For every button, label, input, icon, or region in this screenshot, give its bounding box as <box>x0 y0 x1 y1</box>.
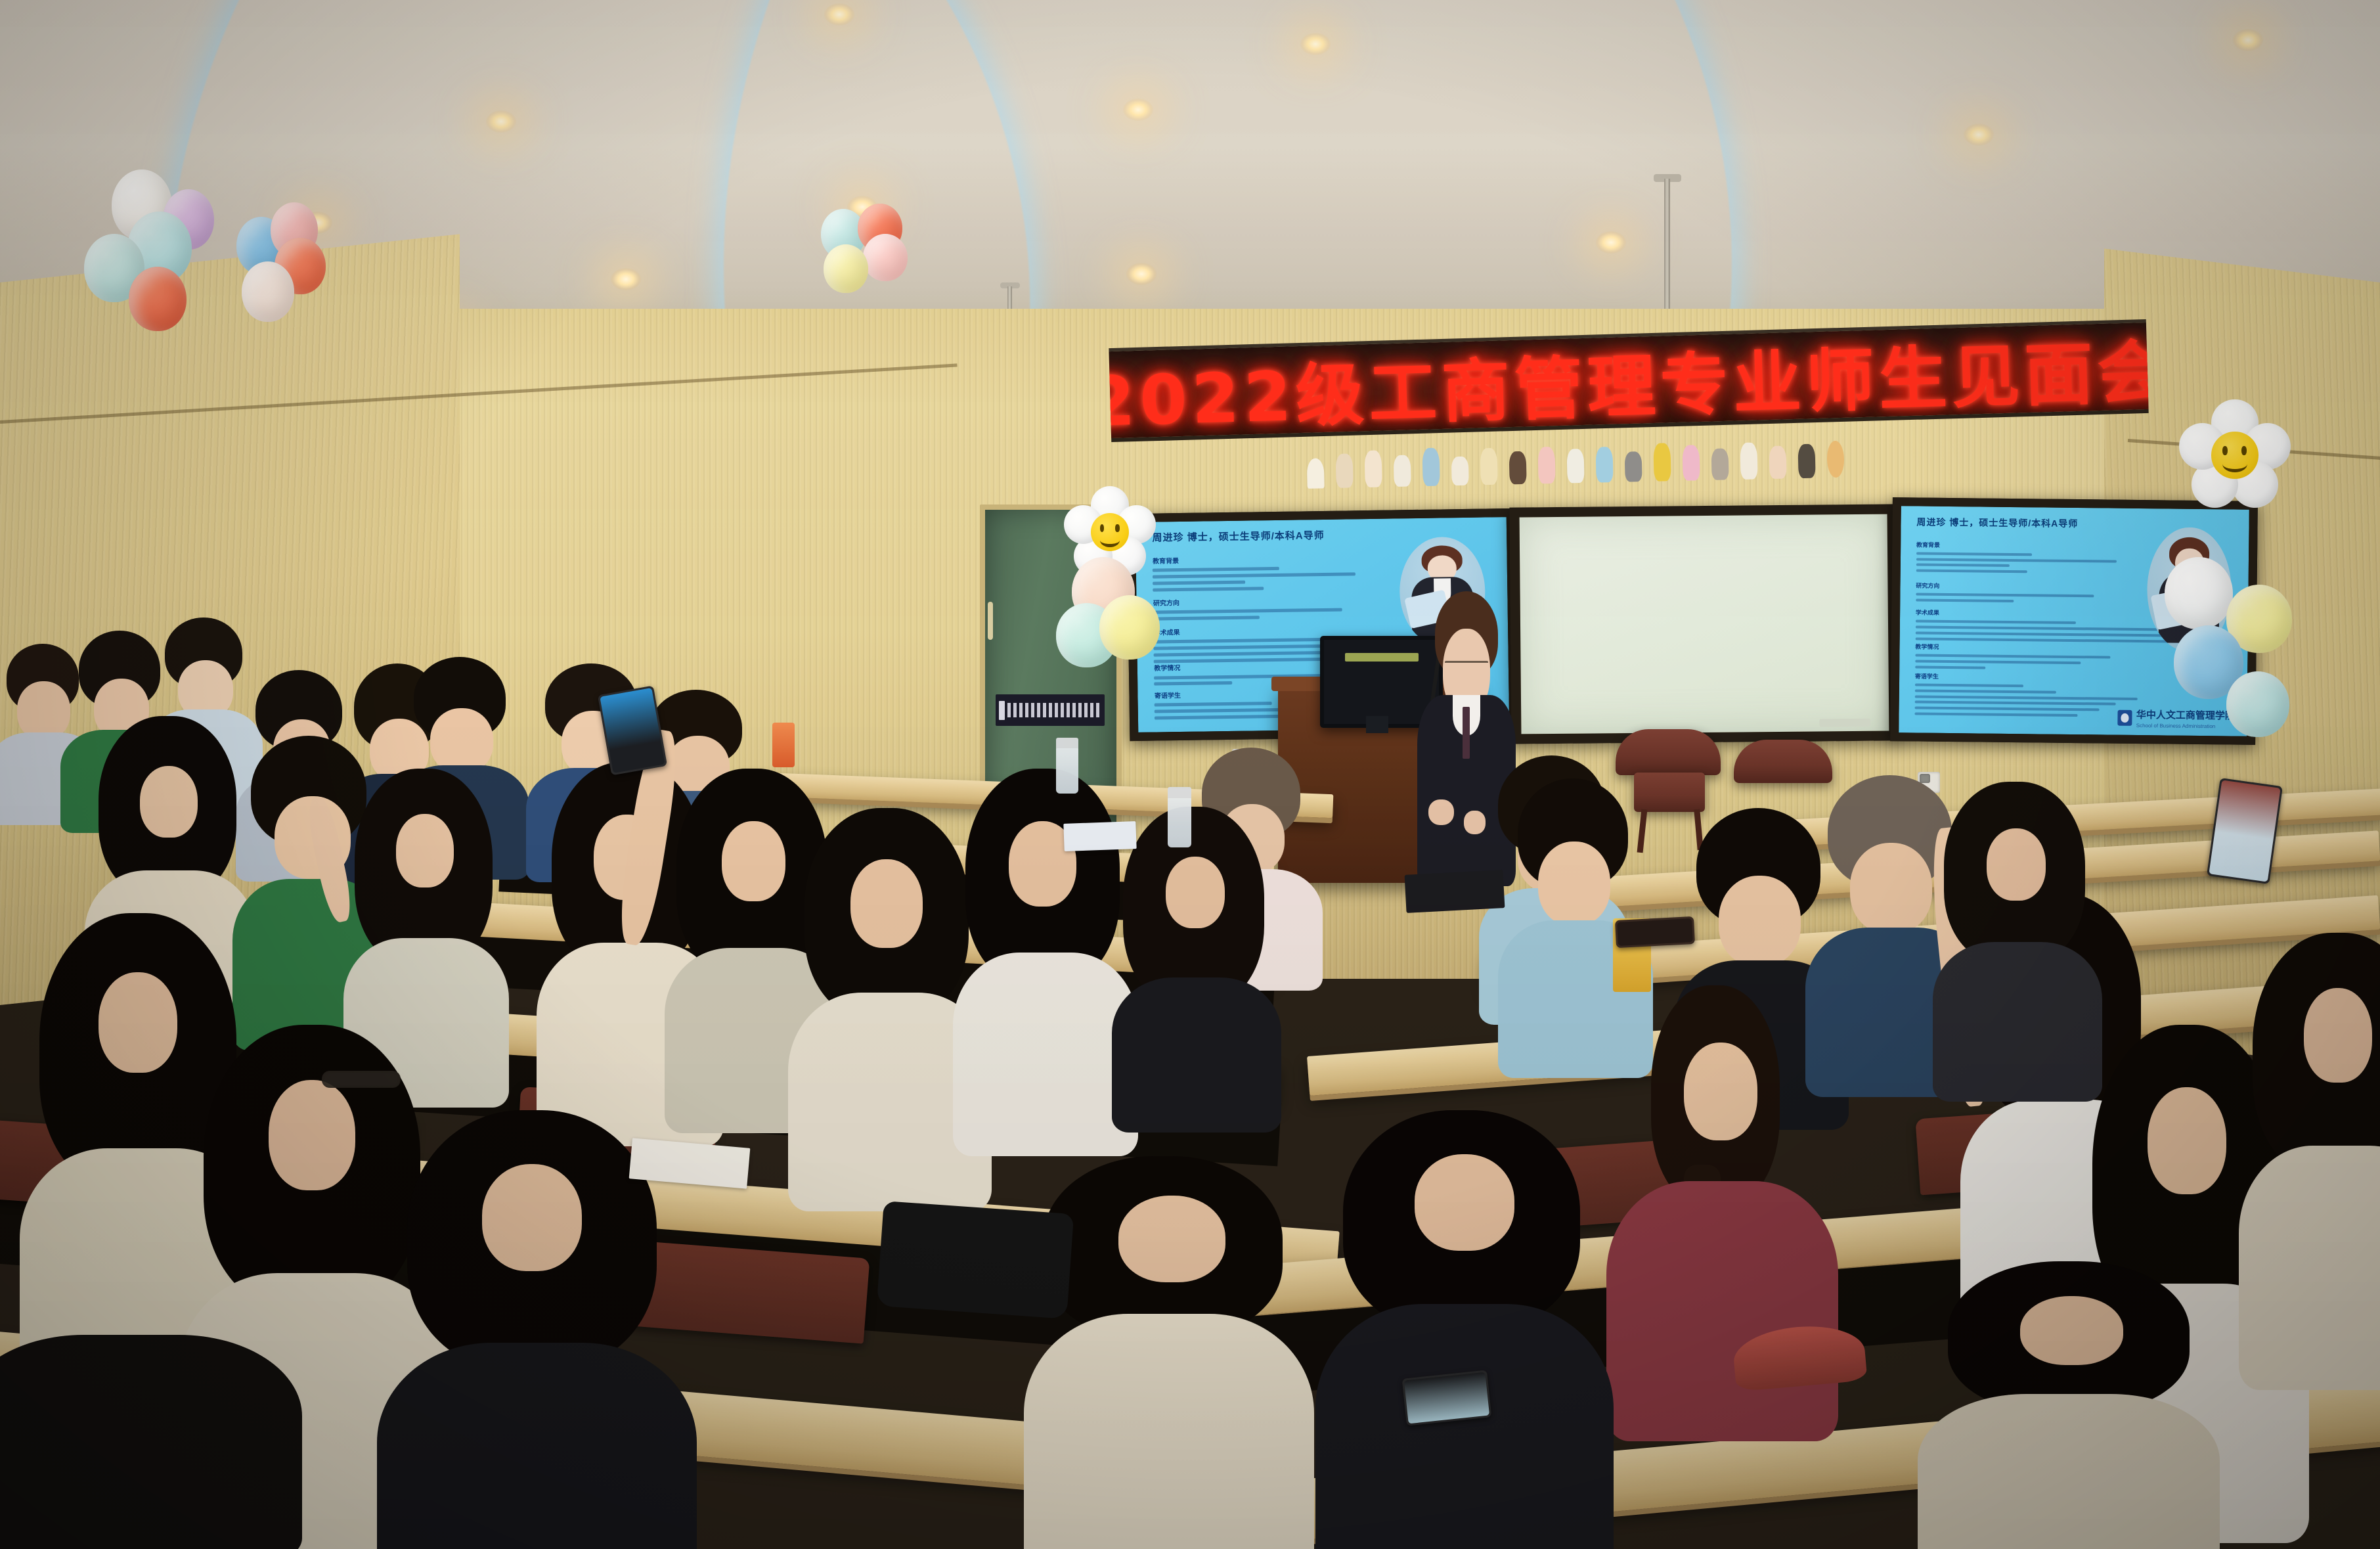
right-slide-title: 周进珍 博士，硕士生导师/本科A导师 <box>1916 515 2078 530</box>
wooden-chair[interactable] <box>1616 729 1721 775</box>
balloon <box>129 267 187 331</box>
head <box>722 821 785 901</box>
figurine <box>1596 447 1614 483</box>
wooden-chair[interactable] <box>1634 773 1705 812</box>
audience-member <box>0 1288 302 1549</box>
school-logo: 华中人文工商管理学院 School of Business Administra… <box>2118 707 2235 729</box>
head <box>1118 1196 1225 1282</box>
figurine <box>1394 455 1411 487</box>
head <box>430 708 493 773</box>
torso <box>0 1335 302 1549</box>
smartphone-on-desk[interactable] <box>1402 1370 1492 1426</box>
presenter-hand <box>1464 811 1486 834</box>
ceiling-downlight <box>486 110 516 133</box>
figurine <box>1625 451 1642 482</box>
school-logo-name: 华中人文工商管理学院 <box>2136 707 2235 723</box>
figurine <box>1740 442 1757 480</box>
slide-section: 研究方向 <box>1916 581 2139 606</box>
torso <box>377 1343 696 1549</box>
figurine <box>1451 457 1469 486</box>
seat-back[interactable] <box>628 1240 870 1343</box>
head <box>850 859 923 948</box>
figurine <box>1480 448 1498 485</box>
water-bottle[interactable] <box>1056 746 1078 794</box>
figurine <box>1797 444 1815 479</box>
torso <box>2239 1146 2380 1390</box>
slide-section-heading: 研究方向 <box>1153 595 1383 608</box>
daisy-balloon-flower <box>2179 399 2291 511</box>
audience-member <box>1918 1261 2220 1549</box>
balloon <box>2226 671 2289 737</box>
monitor-stand <box>1366 716 1388 733</box>
ceiling-downlight <box>1964 123 1994 146</box>
slide-section: 教育背景 <box>1153 552 1383 595</box>
slide-section: 研究方向 <box>1153 595 1384 624</box>
torso <box>1918 1394 2220 1549</box>
lecture-hall-photo: 2022级工商管理专业师生见面会 周进珍 博士，硕士生导师/本科A导师 教育背景 <box>0 0 2380 1549</box>
audience-member <box>804 808 969 1150</box>
slide-section-heading: 教育背景 <box>1153 552 1382 566</box>
figurine <box>1538 447 1556 484</box>
ceiling-downlight <box>2233 29 2263 51</box>
slide-section: 教学情况 <box>1915 642 2166 673</box>
audience-member <box>1327 1110 1602 1549</box>
figurine <box>1509 451 1527 485</box>
phone-screen <box>600 688 665 773</box>
ceiling-downlight <box>611 268 641 290</box>
balloon <box>1099 595 1160 660</box>
shield-icon <box>2118 709 2132 725</box>
balloon <box>242 261 294 322</box>
torso <box>1933 942 2102 1102</box>
head <box>140 766 198 838</box>
figurine <box>1365 450 1382 487</box>
balloon <box>2165 557 2233 629</box>
audience-member <box>1944 782 2085 1058</box>
head <box>1538 842 1610 926</box>
daisy-smiley-center <box>2211 432 2258 478</box>
figurine <box>1711 448 1729 480</box>
torso <box>953 953 1138 1156</box>
door-sign <box>996 694 1105 727</box>
torso <box>1606 1181 1838 1442</box>
phone-screen <box>1617 918 1693 946</box>
head <box>1415 1154 1514 1251</box>
paper-sheet[interactable] <box>1063 821 1136 851</box>
head <box>396 814 454 887</box>
smartphone-on-desk[interactable] <box>1615 916 1695 948</box>
whiteboard-marker-tray <box>1819 719 1870 727</box>
bottle-cap <box>1168 787 1191 798</box>
head <box>2304 988 2372 1083</box>
figurine <box>1653 443 1671 482</box>
audience-member <box>1510 778 1635 1041</box>
head <box>2148 1087 2226 1194</box>
ceiling-downlight <box>1123 99 1153 121</box>
audience-member <box>355 769 493 1051</box>
phone-screen <box>1404 1372 1489 1424</box>
torso <box>1112 977 1281 1132</box>
door-sign-text <box>1007 703 1101 717</box>
head <box>1166 857 1225 928</box>
presenter-hand <box>1428 799 1453 826</box>
phone-screen <box>2209 780 2280 882</box>
laptop[interactable] <box>1405 870 1505 913</box>
audience-member <box>2253 933 2380 1327</box>
head <box>1850 843 1932 933</box>
presenter <box>1435 591 1498 880</box>
balloon <box>863 234 908 281</box>
ceiling-downlight <box>1300 33 1331 55</box>
slide-section: 教育背景 <box>1916 540 2140 577</box>
presenter-tie <box>1463 707 1470 759</box>
head <box>482 1164 582 1271</box>
figurine <box>1826 441 1844 478</box>
eyeglasses-icon <box>322 1071 401 1088</box>
water-bottle[interactable] <box>1168 796 1191 847</box>
slide-section-heading: 教育背景 <box>1916 540 2139 551</box>
head <box>269 1080 355 1190</box>
head <box>17 681 70 739</box>
balloon <box>824 244 868 293</box>
black-bag[interactable] <box>877 1201 1074 1319</box>
figurine <box>1567 449 1585 483</box>
bottle-cap <box>1056 738 1078 748</box>
figurine-star-icon <box>1307 458 1325 489</box>
head <box>1987 828 2046 900</box>
audience-member <box>407 1110 657 1549</box>
torso <box>1024 1314 1314 1549</box>
figurine <box>1336 453 1354 488</box>
glasses-icon <box>1445 661 1487 686</box>
slide-section-heading: 研究方向 <box>1916 581 2138 592</box>
ceiling-downlight <box>1126 263 1157 285</box>
ceiling-downlight <box>824 3 854 26</box>
figurine <box>1769 446 1787 480</box>
head <box>99 972 177 1073</box>
slide-section-heading: 教学情况 <box>1915 642 2166 653</box>
audience-member <box>965 769 1120 1097</box>
head <box>2020 1296 2123 1366</box>
left-slide-title: 周进珍 博士，硕士生导师/本科A导师 <box>1152 528 1324 545</box>
orange-cup[interactable] <box>772 723 795 767</box>
door-handle[interactable] <box>988 602 993 640</box>
head <box>1684 1043 1757 1140</box>
wooden-chair[interactable] <box>1734 740 1832 783</box>
head <box>1719 876 1801 966</box>
door-sign-emblem-icon <box>999 701 1005 720</box>
figurine <box>1422 448 1440 487</box>
figurine <box>1682 445 1700 481</box>
school-logo-subname: School of Business Administration <box>2136 723 2235 730</box>
audience-member <box>1123 807 1264 1083</box>
ceiling-downlight <box>1596 231 1626 254</box>
whiteboard <box>1509 504 1899 744</box>
torso <box>1315 1304 1614 1549</box>
